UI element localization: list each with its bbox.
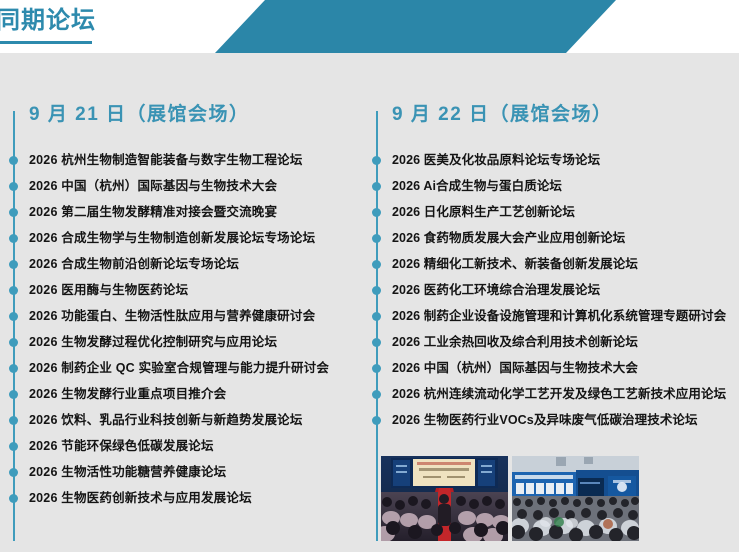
forum-title: 2026 医用酶与生物医药论坛 (29, 283, 188, 297)
photo-gallery (381, 456, 639, 541)
bullet-dot-icon (9, 260, 18, 269)
bullet-dot-icon (372, 156, 381, 165)
bullet-dot-icon (9, 364, 18, 373)
forum-title: 2026 第二届生物发酵精准对接会暨交流晚宴 (29, 205, 277, 219)
forum-title: 2026 制药企业设备设施管理和计算机化系统管理专题研讨会 (392, 309, 726, 323)
forum-title: 2026 中国（杭州）国际基因与生物技术大会 (392, 361, 638, 375)
page-title-underline (0, 41, 92, 44)
list-item[interactable]: 2026 日化原料生产工艺创新论坛 (363, 199, 739, 225)
forum-title: 2026 节能环保绿色低碳发展论坛 (29, 439, 214, 453)
list-item[interactable]: 2026 制药企业 QC 实验室合规管理与能力提升研讨会 (0, 355, 363, 381)
bullet-dot-icon (372, 234, 381, 243)
bullet-dot-icon (372, 338, 381, 347)
bullet-dot-icon (9, 234, 18, 243)
bullet-dot-icon (9, 208, 18, 217)
list-item[interactable]: 2026 饮料、乳品行业科技创新与新趋势发展论坛 (0, 407, 363, 433)
list-item[interactable]: 2026 功能蛋白、生物活性肽应用与营养健康研讨会 (0, 303, 363, 329)
schedule-panel: 9 月 21 日（展馆会场） 2026 杭州生物制造智能装备与数字生物工程论坛 … (0, 53, 739, 552)
bullet-dot-icon (372, 182, 381, 191)
forum-title: 2026 生物活性功能糖营养健康论坛 (29, 465, 226, 479)
forum-title: 2026 精细化工新技术、新装备创新发展论坛 (392, 257, 638, 271)
forum-title: 2026 制药企业 QC 实验室合规管理与能力提升研讨会 (29, 361, 329, 375)
forum-title: 2026 杭州生物制造智能装备与数字生物工程论坛 (29, 153, 303, 167)
forum-title: 2026 医美及化妆品原料论坛专场论坛 (392, 153, 600, 167)
list-item[interactable]: 2026 工业余热回收及综合利用技术创新论坛 (363, 329, 739, 355)
bullet-dot-icon (9, 390, 18, 399)
bullet-dot-icon (372, 416, 381, 425)
forum-title: 2026 医药化工环境综合治理发展论坛 (392, 283, 600, 297)
list-item[interactable]: 2026 医药化工环境综合治理发展论坛 (363, 277, 739, 303)
page-header: 同期论坛 (0, 0, 739, 53)
list-item[interactable]: 2026 中国（杭州）国际基因与生物技术大会 (0, 173, 363, 199)
list-item[interactable]: 2026 生物医药创新技术与应用发展论坛 (0, 485, 363, 511)
list-item[interactable]: 2026 食药物质发展大会产业应用创新论坛 (363, 225, 739, 251)
list-item[interactable]: 2026 生物发酵行业重点项目推介会 (0, 381, 363, 407)
list-item[interactable]: 2026 生物发酵过程优化控制研究与应用论坛 (0, 329, 363, 355)
forum-title: 2026 生物发酵行业重点项目推介会 (29, 387, 226, 401)
bullet-dot-icon (372, 260, 381, 269)
bullet-dot-icon (9, 494, 18, 503)
list-item[interactable]: 2026 生物医药行业VOCs及异味废气低碳治理技术论坛 (363, 407, 739, 433)
bullet-dot-icon (372, 208, 381, 217)
list-item[interactable]: 2026 合成生物前沿创新论坛专场论坛 (0, 251, 363, 277)
list-item[interactable]: 2026 合成生物学与生物制造创新发展论坛专场论坛 (0, 225, 363, 251)
list-item[interactable]: 2026 第二届生物发酵精准对接会暨交流晚宴 (0, 199, 363, 225)
list-item[interactable]: 2026 制药企业设备设施管理和计算机化系统管理专题研讨会 (363, 303, 739, 329)
forum-title: 2026 合成生物前沿创新论坛专场论坛 (29, 257, 239, 271)
list-item[interactable]: 2026 杭州连续流动化学工艺开发及绿色工艺新技术应用论坛 (363, 381, 739, 407)
forum-title: 2026 杭州连续流动化学工艺开发及绿色工艺新技术应用论坛 (392, 387, 726, 401)
bullet-dot-icon (9, 182, 18, 191)
header-banner-decoration (0, 0, 739, 53)
forum-list-sept22: 2026 医美及化妆品原料论坛专场论坛 2026 Ai合成生物与蛋白质论坛 20… (363, 147, 739, 433)
list-item[interactable]: 2026 Ai合成生物与蛋白质论坛 (363, 173, 739, 199)
forum-title: 2026 食药物质发展大会产业应用创新论坛 (392, 231, 625, 245)
bullet-dot-icon (372, 390, 381, 399)
page-title: 同期论坛 (0, 6, 96, 36)
bullet-dot-icon (372, 364, 381, 373)
list-item[interactable]: 2026 生物活性功能糖营养健康论坛 (0, 459, 363, 485)
forum-title: 2026 合成生物学与生物制造创新发展论坛专场论坛 (29, 231, 315, 245)
list-item[interactable]: 2026 医美及化妆品原料论坛专场论坛 (363, 147, 739, 173)
bullet-dot-icon (372, 286, 381, 295)
list-item[interactable]: 2026 医用酶与生物医药论坛 (0, 277, 363, 303)
forum-title: 2026 生物医药创新技术与应用发展论坛 (29, 491, 252, 505)
list-item[interactable]: 2026 精细化工新技术、新装备创新发展论坛 (363, 251, 739, 277)
bullet-dot-icon (372, 312, 381, 321)
forum-title: 2026 生物发酵过程优化控制研究与应用论坛 (29, 335, 277, 349)
bullet-dot-icon (9, 156, 18, 165)
forum-title: 2026 中国（杭州）国际基因与生物技术大会 (29, 179, 277, 193)
forum-list-sept21: 2026 杭州生物制造智能装备与数字生物工程论坛 2026 中国（杭州）国际基因… (0, 147, 363, 511)
bullet-dot-icon (9, 468, 18, 477)
forum-title: 2026 Ai合成生物与蛋白质论坛 (392, 179, 562, 193)
list-item[interactable]: 2026 中国（杭州）国际基因与生物技术大会 (363, 355, 739, 381)
day-title-sept21: 9 月 21 日（展馆会场） (29, 99, 250, 126)
list-item[interactable]: 2026 节能环保绿色低碳发展论坛 (0, 433, 363, 459)
bullet-dot-icon (9, 442, 18, 451)
list-item[interactable]: 2026 杭州生物制造智能装备与数字生物工程论坛 (0, 147, 363, 173)
bullet-dot-icon (9, 312, 18, 321)
bullet-dot-icon (9, 338, 18, 347)
forum-title: 2026 生物医药行业VOCs及异味废气低碳治理技术论坛 (392, 413, 698, 427)
conference-photo-audience (512, 456, 639, 541)
day-column-sept22: 9 月 22 日（展馆会场） 2026 医美及化妆品原料论坛专场论坛 2026 … (363, 53, 739, 552)
conference-photo-stage (381, 456, 508, 541)
forum-title: 2026 日化原料生产工艺创新论坛 (392, 205, 575, 219)
forum-title: 2026 饮料、乳品行业科技创新与新趋势发展论坛 (29, 413, 303, 427)
bullet-dot-icon (9, 286, 18, 295)
forum-schedule-page: 同期论坛 9 月 21 日（展馆会场） 2026 杭州生物制造智能装备与数字生物… (0, 0, 739, 552)
day-column-sept21: 9 月 21 日（展馆会场） 2026 杭州生物制造智能装备与数字生物工程论坛 … (0, 53, 363, 552)
forum-title: 2026 工业余热回收及综合利用技术创新论坛 (392, 335, 638, 349)
bullet-dot-icon (9, 416, 18, 425)
day-title-sept22: 9 月 22 日（展馆会场） (392, 99, 613, 126)
forum-title: 2026 功能蛋白、生物活性肽应用与营养健康研讨会 (29, 309, 315, 323)
